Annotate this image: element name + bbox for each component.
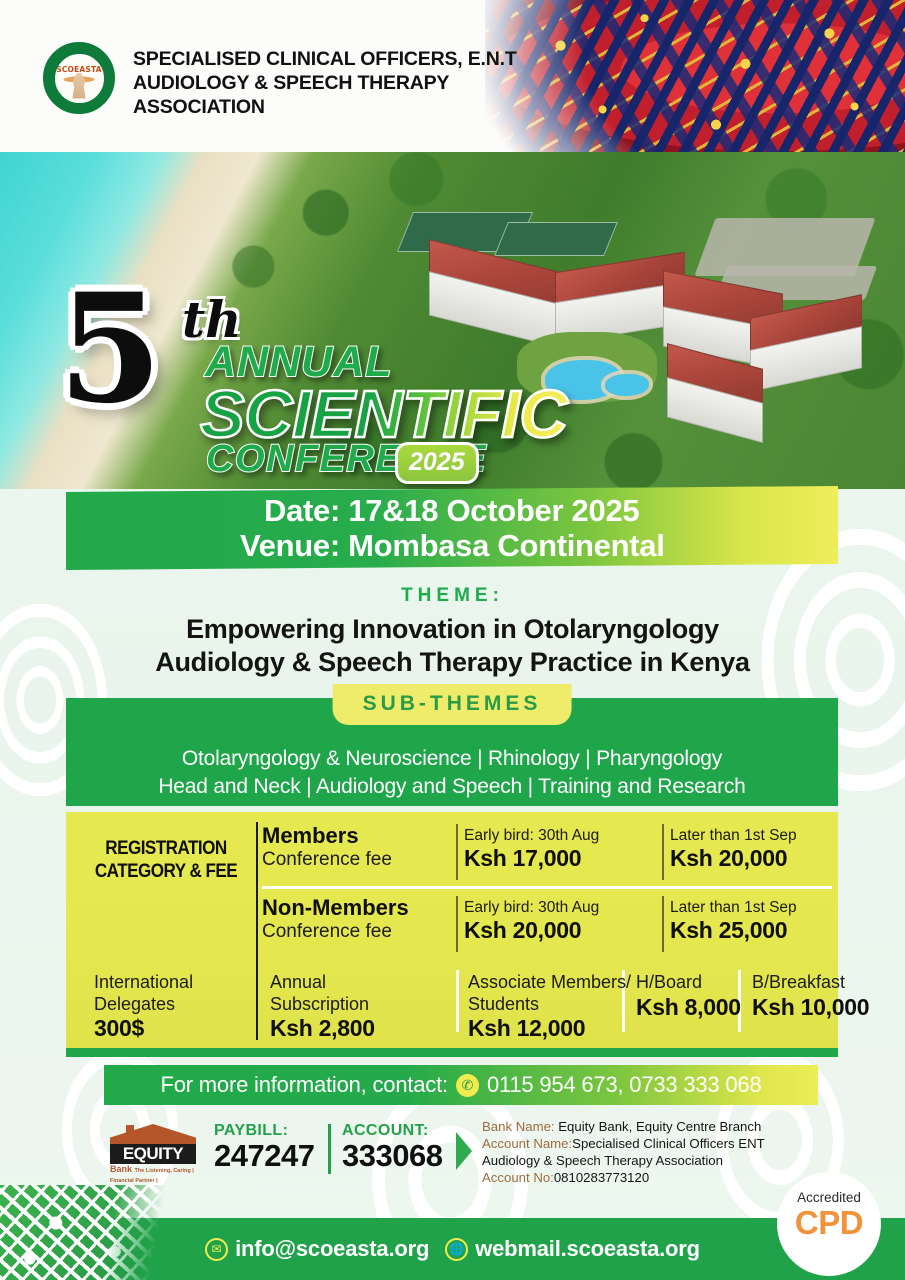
bank-name-value: Equity Bank, Equity Centre Branch <box>558 1119 761 1134</box>
fee-table-top: REGISTRATION CATEGORY & FEE Members Conf… <box>66 812 838 960</box>
fee-extra-amount: 300$ <box>94 1015 244 1043</box>
fee-extra-amount: Ksh 12,000 <box>468 1015 658 1043</box>
subthemes-line-2: Head and Neck | Audiology and Speech | T… <box>66 773 838 801</box>
equity-logo-roof <box>110 1124 196 1146</box>
title-year-badge: 2025 <box>395 442 479 484</box>
fee-extra-label-1: International <box>94 972 244 994</box>
fee-extra-annual-subscription: Annual Subscription Ksh 2,800 <box>270 972 440 1043</box>
association-logo: SCOEASTA <box>43 42 115 114</box>
fee-early-label: Early bird: 30th Aug <box>464 898 660 917</box>
cpd-accredited-label: Accredited <box>797 1191 861 1205</box>
fee-type-sublabel: Conference fee <box>262 849 434 870</box>
fee-extra-half-board: H/Board Ksh 8,000 <box>636 972 746 1021</box>
fee-extra-amount: Ksh 8,000 <box>636 994 746 1022</box>
logo-text: SCOEASTA <box>55 65 104 74</box>
contact-info-bar: For more information, contact: ✆ 0115 95… <box>104 1065 818 1105</box>
account-value[interactable]: 333068 <box>342 1140 442 1173</box>
fee-late-non-members: Later than 1st Sep Ksh 25,000 <box>670 898 866 945</box>
subthemes-pill-label: SUB-THEMES <box>333 684 572 725</box>
paybill-block: PAYBILL: 247247 <box>214 1122 314 1173</box>
theme-line-2: Audiology & Speech Therapy Practice in K… <box>0 646 905 679</box>
logo-inner-emblem: SCOEASTA <box>52 51 107 106</box>
fee-extra-amount: Ksh 10,000 <box>752 994 882 1022</box>
fee-extra-label-2: Delegates <box>94 994 244 1016</box>
equity-logo-bank-word: Bank <box>110 1164 132 1174</box>
theme-line-1: Empowering Innovation in Otolaryngology <box>0 613 905 646</box>
fee-type-non-members: Non-Members Conference fee <box>262 896 434 942</box>
cpd-label: CPD <box>795 1206 863 1239</box>
fee-category-title-line2: CATEGORY & FEE <box>85 861 247 884</box>
ordinal-number: 5 <box>58 288 162 411</box>
fee-early-label: Early bird: 30th Aug <box>464 826 660 845</box>
organization-title: SPECIALISED CLINICAL OFFICERS, E.N.T AUD… <box>133 48 543 119</box>
fee-late-label: Later than 1st Sep <box>670 826 866 845</box>
equity-logo-subtext: Bank The Listening, Caring | Financial P… <box>110 1164 202 1184</box>
fee-type-sublabel: Conference fee <box>262 921 434 942</box>
contact-prefix: For more information, contact: <box>160 1072 447 1098</box>
account-no-label: Account No: <box>482 1170 554 1185</box>
fee-late-amount: Ksh 20,000 <box>670 845 866 872</box>
conference-title-lockup: 5 th ANNUAL SCIENTIFIC CONFERENCE 2025 <box>50 280 520 480</box>
theme-label: THEME: <box>0 585 905 607</box>
fee-row-non-members: Non-Members Conference fee Early bird: 3… <box>262 896 832 958</box>
equity-bank-logo-icon: EQUITY Bank The Listening, Caring | Fina… <box>104 1124 202 1176</box>
fee-extra-label-2: Students <box>468 994 658 1016</box>
globe-icon: 🌐 <box>445 1238 468 1261</box>
theme-section: THEME: Empowering Innovation in Otolaryn… <box>0 585 905 679</box>
fee-early-amount: Ksh 20,000 <box>464 917 660 944</box>
fee-bottom-divider-1 <box>456 970 459 1032</box>
fee-late-members: Later than 1st Sep Ksh 20,000 <box>670 826 866 873</box>
account-name-value: Specialised Clinical Officers ENT <box>572 1136 765 1151</box>
envelope-icon: ✉ <box>205 1238 228 1261</box>
account-name-row: Account Name:Specialised Clinical Office… <box>482 1135 822 1152</box>
bank-details-block: Bank Name: Equity Bank, Equity Centre Br… <box>482 1118 822 1187</box>
arrow-right-icon <box>456 1132 472 1170</box>
fee-extra-associate-students: Associate Members/ Students Ksh 12,000 <box>468 972 658 1043</box>
african-wax-print-fabric-icon <box>485 0 905 152</box>
tribal-pattern-motif-icon <box>0 1185 186 1280</box>
paybill-value[interactable]: 247247 <box>214 1140 314 1173</box>
fee-extra-bed-breakfast: B/Breakfast Ksh 10,000 <box>752 972 882 1021</box>
footer-website[interactable]: webmail.scoeasta.org <box>475 1236 700 1262</box>
conference-date: Date: 17&18 October 2025 <box>264 493 639 528</box>
phone-icon: ✆ <box>456 1074 479 1097</box>
fee-row-members: Members Conference fee Early bird: 30th … <box>262 824 832 886</box>
fee-extra-label-1: Associate Members/ <box>468 972 658 994</box>
fee-category-title-line1: REGISTRATION <box>85 838 247 861</box>
fee-extra-international: International Delegates 300$ <box>94 972 244 1043</box>
fee-early-members: Early bird: 30th Aug Ksh 17,000 <box>464 826 660 873</box>
registration-fee-table: REGISTRATION CATEGORY & FEE Members Conf… <box>66 812 838 1048</box>
bank-name-row: Bank Name: Equity Bank, Equity Centre Br… <box>482 1118 822 1135</box>
fee-table-bottom: International Delegates 300$ Annual Subs… <box>66 960 838 1048</box>
account-name-row-2: Audiology & Speech Therapy Association <box>482 1152 822 1169</box>
fee-type-members: Members Conference fee <box>262 824 434 870</box>
hero-photo-band: 5 th ANNUAL SCIENTIFIC CONFERENCE 2025 <box>0 152 905 489</box>
footer-website-item[interactable]: 🌐 webmail.scoeasta.org <box>445 1236 700 1262</box>
fee-extra-label-1: B/Breakfast <box>752 972 882 994</box>
account-block: ACCOUNT: 333068 <box>342 1122 442 1173</box>
footer-email[interactable]: info@scoeasta.org <box>235 1236 429 1262</box>
payment-divider <box>328 1124 331 1174</box>
conference-poster: SCOEASTA SPECIALISED CLINICAL OFFICERS, … <box>0 0 905 1280</box>
cpd-accreditation-badge: Accredited CPD <box>777 1172 881 1276</box>
fee-extra-amount: Ksh 2,800 <box>270 1015 440 1043</box>
contact-phone-numbers[interactable]: 0115 954 673, 0733 333 068 <box>487 1072 762 1098</box>
fee-extra-label-1: Annual <box>270 972 440 994</box>
payment-details-section: EQUITY Bank The Listening, Caring | Fina… <box>0 1112 905 1194</box>
account-no-value[interactable]: 0810283773120 <box>554 1170 649 1185</box>
fee-late-label: Later than 1st Sep <box>670 898 866 917</box>
fee-extra-label-2: Subscription <box>270 994 440 1016</box>
date-venue-banner: Date: 17&18 October 2025 Venue: Mombasa … <box>66 486 838 570</box>
fee-early-amount: Ksh 17,000 <box>464 845 660 872</box>
fee-category-title: REGISTRATION CATEGORY & FEE <box>85 838 247 884</box>
subthemes-list: Otolaryngology & Neuroscience | Rhinolog… <box>66 745 838 800</box>
fee-late-amount: Ksh 25,000 <box>670 917 866 944</box>
subthemes-section: SUB-THEMES Otolaryngology & Neuroscience… <box>66 698 838 806</box>
equity-logo-name: EQUITY <box>110 1144 196 1164</box>
subthemes-line-1: Otolaryngology & Neuroscience | Rhinolog… <box>66 745 838 773</box>
fee-type-label: Non-Members <box>262 896 434 921</box>
bank-name-label: Bank Name: <box>482 1119 555 1134</box>
poster-header: SCOEASTA SPECIALISED CLINICAL OFFICERS, … <box>0 0 905 152</box>
footer-email-item[interactable]: ✉ info@scoeasta.org <box>205 1236 429 1262</box>
fee-early-non-members: Early bird: 30th Aug Ksh 20,000 <box>464 898 660 945</box>
fee-type-label: Members <box>262 824 434 849</box>
account-name-label: Account Name: <box>482 1136 572 1151</box>
fee-extra-label-1: H/Board <box>636 972 746 994</box>
fee-row-divider <box>262 886 832 889</box>
conference-venue: Venue: Mombasa Continental <box>240 528 665 563</box>
account-no-row: Account No:0810283773120 <box>482 1169 822 1186</box>
